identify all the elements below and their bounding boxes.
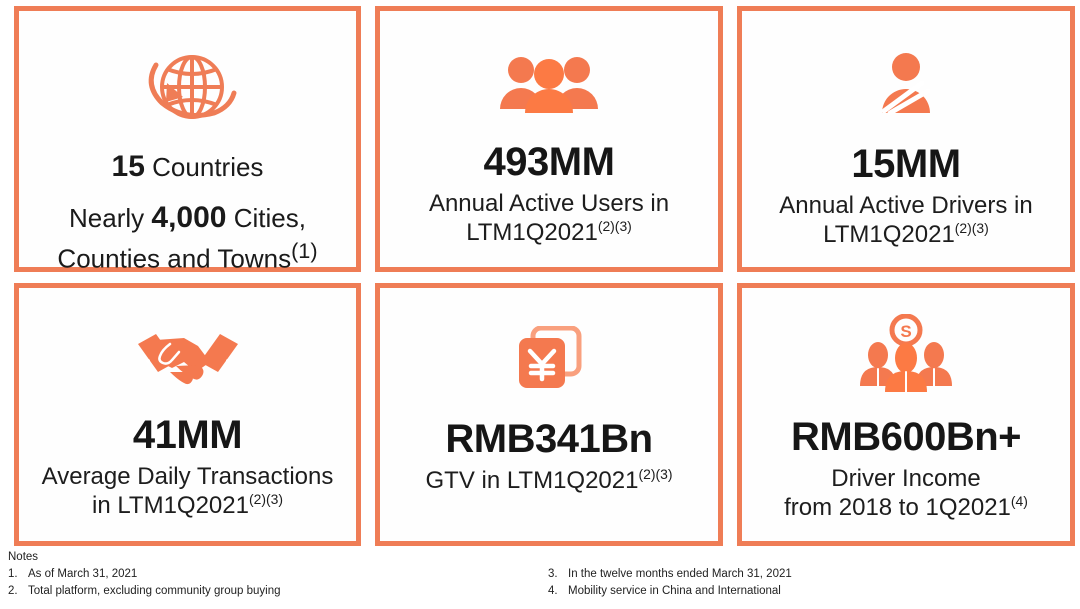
notes-section: Notes 1. As of March 31, 2021 2. Total p… [8,549,1072,599]
transactions-caption: Average Daily Transactions in LTM1Q2021(… [36,462,340,521]
note-item: 2. Total platform, excluding community g… [8,583,532,599]
yuan-cards-icon [380,326,718,390]
countries-word: Countries [152,152,263,182]
income-caption-line-2: from 2018 to 1Q2021 [784,494,1011,521]
notes-column-right: 3. In the twelve months ended March 31, … [548,566,1072,599]
globe-orbit-icon [19,45,356,127]
handshake-icon [19,328,356,386]
note-item: 3. In the twelve months ended March 31, … [548,566,1072,582]
countries-line-1: 15 Countries [112,149,264,185]
stat-card-countries: 15 Countries Nearly 4,000 Cities, Counti… [14,6,361,272]
countries-line-2: Nearly 4,000 Cities, Counties and Towns(… [47,199,327,275]
footnote-ref: (2)(3) [638,466,672,482]
income-caption: Driver Income from 2018 to 1Q2021(4) [778,464,1034,523]
stat-card-income: S RMB600Bn+ Driver I [737,283,1075,546]
people-group-icon [380,51,718,113]
cities-number: 4,000 [151,201,226,234]
footnote-ref: (1) [291,238,317,263]
cities-word: Cities, [234,203,306,233]
gtv-caption: GTV in LTM1Q2021(2)(3) [420,466,679,495]
stat-card-transactions: 41MM Average Daily Transactions in LTM1Q… [14,283,361,546]
note-number: 2. [8,583,28,599]
stat-card-users: 493MM Annual Active Users in LTM1Q2021(2… [375,6,723,272]
footnote-ref: (4) [1011,493,1028,509]
footnote-ref: (2)(3) [598,218,632,234]
note-item: 4. Mobility service in China and Interna… [548,583,1072,599]
users-caption-line-2: LTM1Q2021 [466,219,598,246]
footnote-ref: (2)(3) [955,220,989,236]
note-number: 3. [548,566,568,582]
users-metric: 493MM [484,141,615,183]
driver-seatbelt-icon [742,51,1070,115]
svg-text:S: S [900,322,911,341]
drivers-metric: 15MM [851,143,960,185]
note-text: Total platform, excluding community grou… [28,583,281,599]
transactions-metric: 41MM [133,414,242,456]
stat-card-drivers: 15MM Annual Active Drivers in LTM1Q2021(… [737,6,1075,272]
note-number: 1. [8,566,28,582]
countries-number: 15 [112,150,145,183]
drivers-caption-line-1: Annual Active Drivers in [779,192,1032,219]
note-text: As of March 31, 2021 [28,566,137,582]
transactions-caption-line-2: in LTM1Q2021 [92,492,249,519]
note-number: 4. [548,583,568,599]
note-text: Mobility service in China and Internatio… [568,583,781,599]
notes-title: Notes [8,549,1072,565]
stats-grid: 15 Countries Nearly 4,000 Cities, Counti… [14,6,1075,546]
drivers-caption: Annual Active Drivers in LTM1Q2021(2)(3) [773,191,1038,250]
notes-column-left: 1. As of March 31, 2021 2. Total platfor… [8,566,532,599]
gtv-caption-line-1: GTV in LTM1Q2021 [426,467,639,494]
users-caption: Annual Active Users in LTM1Q2021(2)(3) [423,189,675,248]
income-caption-line-1: Driver Income [831,465,980,492]
transactions-caption-line-1: Average Daily Transactions [42,463,334,490]
cities-prefix: Nearly [69,203,144,233]
footnote-ref: (2)(3) [249,491,283,507]
stat-card-gtv: RMB341Bn GTV in LTM1Q2021(2)(3) [375,283,723,546]
note-text: In the twelve months ended March 31, 202… [568,566,792,582]
gtv-metric: RMB341Bn [445,418,652,460]
note-item: 1. As of March 31, 2021 [8,566,532,582]
cities-line-3: Counties and Towns [57,243,291,273]
people-coin-icon: S [742,314,1070,394]
notes-columns: 1. As of March 31, 2021 2. Total platfor… [8,566,1072,599]
income-metric: RMB600Bn+ [791,416,1021,458]
users-caption-line-1: Annual Active Users in [429,190,669,217]
drivers-caption-line-2: LTM1Q2021 [823,221,955,248]
